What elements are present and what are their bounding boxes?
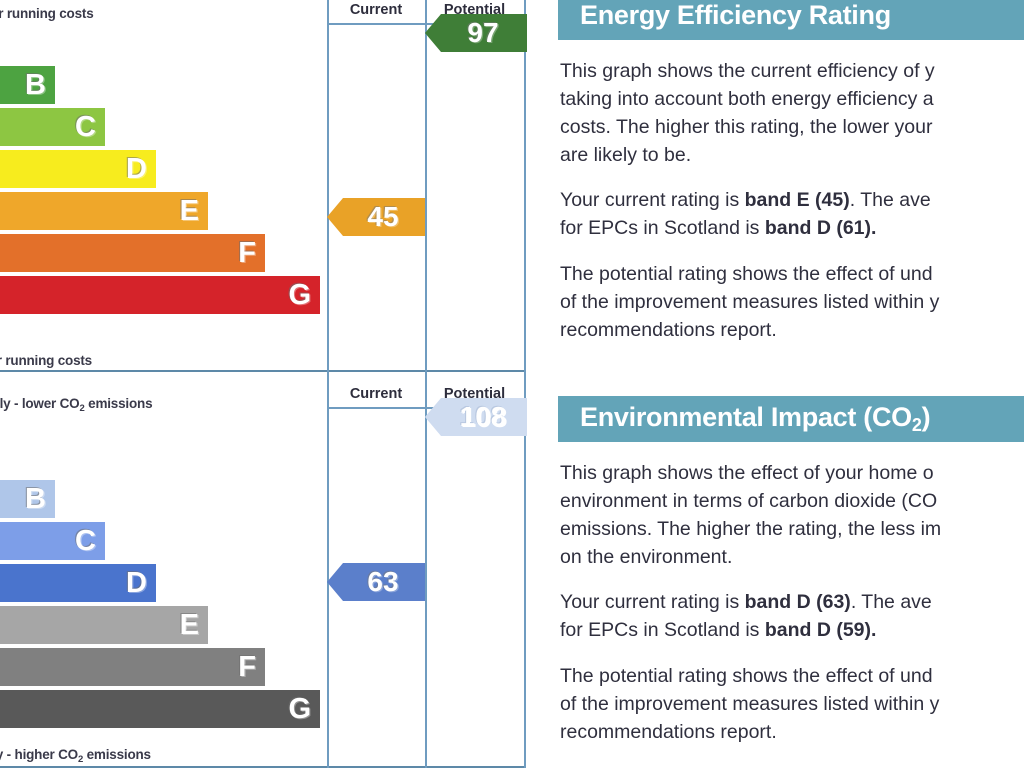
paragraph: This graph shows the effect of your home…	[560, 459, 1024, 571]
energy-current-rating-arrow: 45	[327, 198, 425, 236]
table-left-border	[327, 370, 329, 768]
co2-scale-top-label: ally friendly - lower CO2 emissions	[0, 396, 152, 411]
energy-potential-value: 97	[467, 19, 498, 47]
band-letter: D	[126, 569, 147, 598]
text-run: environment in terms of carbon dioxide (…	[560, 490, 937, 512]
band-letter: F	[238, 653, 256, 682]
band-letter: G	[288, 695, 311, 724]
energy-scale-top-label: ent - lower running costs	[0, 6, 94, 21]
paragraph-line: Your current rating is band E (45). The …	[560, 186, 1024, 214]
band-row: D	[0, 562, 330, 604]
band-letter: C	[75, 527, 96, 556]
paragraph-line: This graph shows the current efficiency …	[560, 57, 1024, 85]
band-bar-g: G	[0, 276, 320, 314]
band-row: C	[0, 520, 330, 562]
energy-efficiency-chart: ent - lower running costs BCDEFG nt - hi…	[0, 0, 526, 372]
paragraph-line: for EPCs in Scotland is band D (59).	[560, 616, 1024, 644]
paragraph-line: costs. The higher this rating, the lower…	[560, 113, 1024, 141]
band-row: G	[0, 688, 330, 730]
co2-current-rating-arrow: 63	[327, 563, 425, 601]
band-bar-d: D	[0, 564, 156, 602]
environmental-impact-info-panel: Environmental Impact (CO2) This graph sh…	[558, 396, 1024, 746]
text-run: This graph shows the effect of your home…	[560, 462, 934, 484]
paragraph-line: Your current rating is band D (63). The …	[560, 588, 1024, 616]
co2-panel-body: This graph shows the effect of your home…	[558, 459, 1024, 746]
band-letter: B	[25, 485, 46, 514]
text-run: costs. The higher this rating, the lower…	[560, 116, 933, 138]
energy-panel-body: This graph shows the current efficiency …	[558, 57, 1024, 344]
text-run: The potential rating shows the effect of…	[560, 665, 933, 687]
text-run: taking into account both energy efficien…	[560, 88, 934, 110]
paragraph-line: for EPCs in Scotland is band D (61).	[560, 214, 1024, 242]
co2-panel-title-tail: )	[922, 402, 931, 432]
table-left-border	[327, 0, 329, 372]
band-row: C	[0, 106, 330, 148]
paragraph: The potential rating shows the effect of…	[560, 260, 1024, 344]
co2-panel-title-main: Environmental Impact (CO	[580, 402, 912, 432]
co2-scale-bottom-label: lly friendly - higher CO2 emissions	[0, 747, 151, 762]
text-run: This graph shows the current efficiency …	[560, 60, 935, 82]
band-letter: B	[25, 71, 46, 100]
text-run: recommendations report.	[560, 721, 777, 743]
paragraph-line: of the improvement measures listed withi…	[560, 288, 1024, 316]
paragraph: This graph shows the current efficiency …	[560, 57, 1024, 169]
energy-scale-bottom-label: nt - higher running costs	[0, 353, 92, 368]
band-letter: E	[180, 197, 199, 226]
band-bar-b: B	[0, 66, 55, 104]
text-run: Your current rating is	[560, 591, 745, 613]
paragraph-line: recommendations report.	[560, 316, 1024, 344]
band-row: B	[0, 478, 330, 520]
text-run: for EPCs in Scotland is	[560, 217, 765, 239]
co2-potential-rating-arrow: 108	[425, 398, 527, 436]
band-letter: G	[288, 281, 311, 310]
band-row: F	[0, 232, 330, 274]
energy-current-value: 45	[367, 203, 398, 231]
paragraph-line: recommendations report.	[560, 718, 1024, 746]
text-run: of the improvement measures listed withi…	[560, 693, 939, 715]
co2-rating-table: Current Potential 108 63	[327, 370, 526, 768]
band-letter: E	[180, 611, 199, 640]
text-run: of the improvement measures listed withi…	[560, 291, 939, 313]
band-bar-e: E	[0, 606, 208, 644]
paragraph: Your current rating is band E (45). The …	[560, 186, 1024, 242]
band-row: B	[0, 64, 330, 106]
energy-potential-rating-arrow: 97	[425, 14, 527, 52]
text-run: The potential rating shows the effect of…	[560, 263, 933, 285]
paragraph-line: of the improvement measures listed withi…	[560, 690, 1024, 718]
band-bar-e: E	[0, 192, 208, 230]
text-run: . The ave	[851, 591, 932, 613]
band-letter: F	[238, 239, 256, 268]
co2-current-value: 63	[367, 568, 398, 596]
text-run: . The ave	[850, 189, 931, 211]
co2-panel-title: Environmental Impact (CO2)	[558, 396, 1024, 442]
band-row: E	[0, 190, 330, 232]
paragraph-line: taking into account both energy efficien…	[560, 85, 1024, 113]
paragraph-line: The potential rating shows the effect of…	[560, 260, 1024, 288]
paragraph-line: are likely to be.	[560, 141, 1024, 169]
co2-potential-value: 108	[460, 403, 507, 431]
paragraph-line: emissions. The higher the rating, the le…	[560, 515, 1024, 543]
band-bar-f: F	[0, 234, 265, 272]
paragraph-line: on the environment.	[560, 543, 1024, 571]
text-run: emissions. The higher the rating, the le…	[560, 518, 941, 540]
text-run: are likely to be.	[560, 144, 691, 166]
band-row: D	[0, 148, 330, 190]
energy-panel-title: Energy Efficiency Rating	[558, 0, 1024, 40]
band-bar-b: B	[0, 480, 55, 518]
band-letter: C	[75, 113, 96, 142]
environmental-impact-chart: ally friendly - lower CO2 emissions BCDE…	[0, 370, 526, 768]
co2-band-bars: BCDEFG	[0, 478, 330, 730]
energy-rating-table: Current Potential 97 45	[327, 0, 526, 372]
epc-certificate-page: ent - lower running costs BCDEFG nt - hi…	[0, 0, 1024, 768]
band-bar-d: D	[0, 150, 156, 188]
band-bar-g: G	[0, 690, 320, 728]
table-right-border	[524, 0, 526, 372]
paragraph: The potential rating shows the effect of…	[560, 662, 1024, 746]
co2-panel-title-subscript: 2	[912, 415, 922, 435]
emphasised-text: band E (45)	[745, 189, 850, 211]
band-bar-f: F	[0, 648, 265, 686]
text-run: recommendations report.	[560, 319, 777, 341]
table-mid-border	[425, 370, 427, 768]
paragraph: Your current rating is band D (63). The …	[560, 588, 1024, 644]
band-letter: D	[126, 155, 147, 184]
band-bar-c: C	[0, 108, 105, 146]
band-bar-c: C	[0, 522, 105, 560]
energy-band-bars: BCDEFG	[0, 64, 330, 316]
paragraph-line: The potential rating shows the effect of…	[560, 662, 1024, 690]
text-run: on the environment.	[560, 546, 732, 568]
energy-efficiency-info-panel: Energy Efficiency Rating This graph show…	[558, 0, 1024, 344]
paragraph-line: This graph shows the effect of your home…	[560, 459, 1024, 487]
band-row: G	[0, 274, 330, 316]
energy-current-column-header: Current	[327, 2, 425, 18]
emphasised-text: band D (63)	[745, 591, 851, 613]
table-mid-border	[425, 0, 427, 372]
co2-current-column-header: Current	[327, 386, 425, 402]
band-row: E	[0, 604, 330, 646]
band-row: F	[0, 646, 330, 688]
emphasised-text: band D (59).	[765, 619, 877, 641]
text-run: for EPCs in Scotland is	[560, 619, 765, 641]
emphasised-text: band D (61).	[765, 217, 877, 239]
text-run: Your current rating is	[560, 189, 745, 211]
paragraph-line: environment in terms of carbon dioxide (…	[560, 487, 1024, 515]
